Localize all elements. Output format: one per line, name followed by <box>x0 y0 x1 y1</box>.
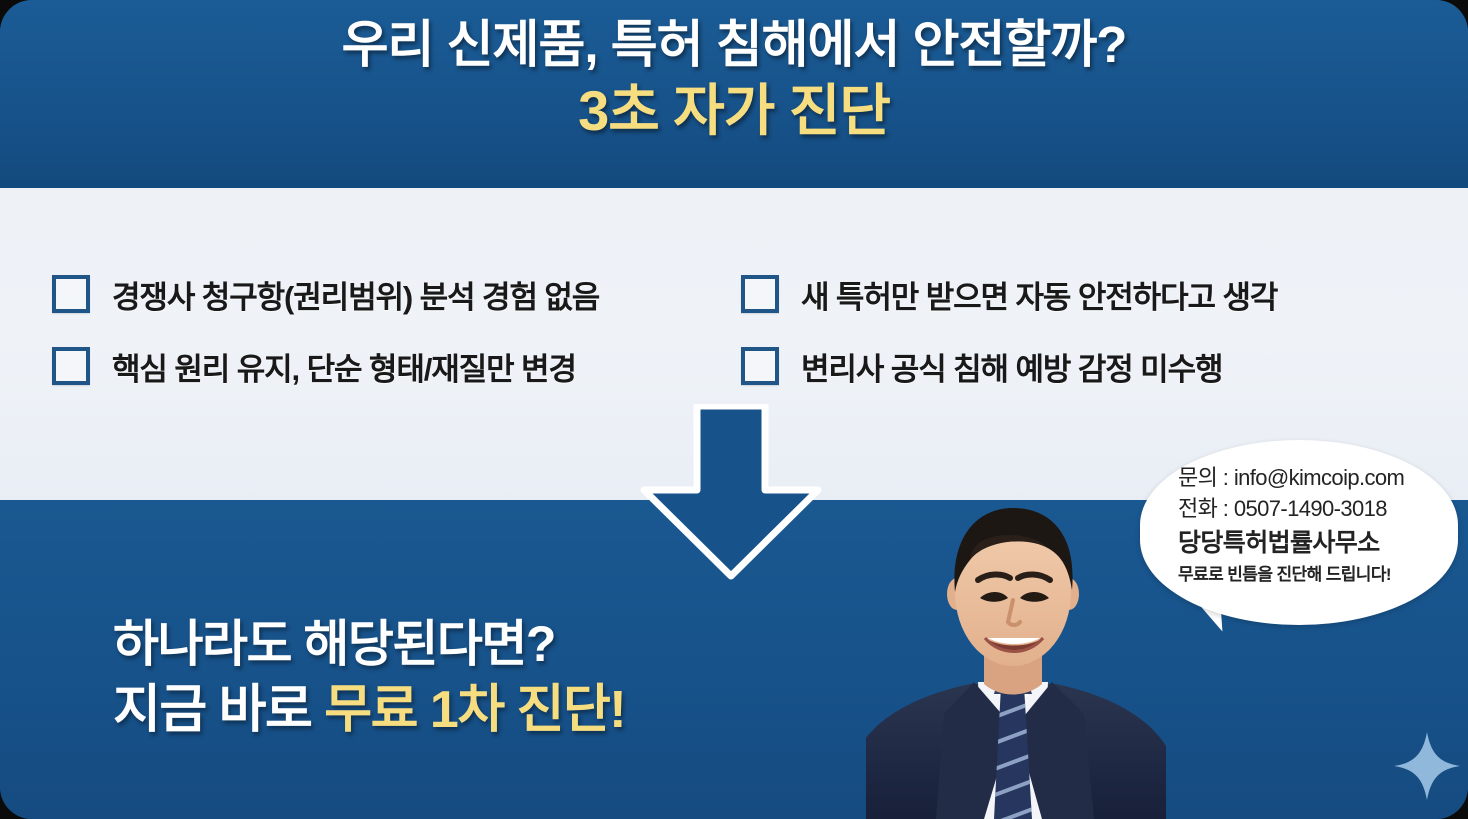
checklist-item-label: 새 특허만 받으면 자동 안전하다고 생각 <box>801 272 1277 317</box>
checklist-grid: 경쟁사 청구항(권리범위) 분석 경험 없음 새 특허만 받으면 자동 안전하다… <box>0 188 1468 402</box>
spokesperson-photo <box>866 488 1166 819</box>
checklist-item-label: 변리사 공식 침해 예방 감정 미수행 <box>801 344 1222 389</box>
cta-question: 하나라도 해당된다면? <box>113 615 625 674</box>
checkbox-icon[interactable] <box>52 275 90 313</box>
cta-block: 하나라도 해당된다면? 지금 바로 무료 1차 진단! <box>113 615 625 741</box>
cta-action: 지금 바로 무료 1차 진단! <box>113 680 625 741</box>
headline-subtitle: 3초 자가 진단 <box>0 79 1468 143</box>
checklist-item[interactable]: 핵심 원리 유지, 단순 형태/재질만 변경 <box>0 330 718 402</box>
down-arrow-icon <box>636 404 826 580</box>
checklist-item[interactable]: 경쟁사 청구항(권리범위) 분석 경험 없음 <box>0 258 718 330</box>
sparkle-icon <box>1392 730 1462 802</box>
headline-question: 우리 신제품, 특허 침해에서 안전할까? <box>0 16 1468 75</box>
checkbox-icon[interactable] <box>741 275 779 313</box>
checklist-item-label: 경쟁사 청구항(권리범위) 분석 경험 없음 <box>112 272 599 317</box>
contact-phone[interactable]: 전화 : 0507-1490-3018 <box>1178 493 1440 524</box>
firm-name: 당당특허법률사무소 <box>1178 526 1440 561</box>
checkbox-icon[interactable] <box>741 347 779 385</box>
cta-action-plain: 지금 바로 <box>113 681 324 739</box>
contact-speech-bubble: 문의 : info@kimcoip.com 전화 : 0507-1490-301… <box>1140 440 1458 625</box>
checklist-item[interactable]: 새 특허만 받으면 자동 안전하다고 생각 <box>718 258 1468 330</box>
contact-email[interactable]: 문의 : info@kimcoip.com <box>1178 462 1440 493</box>
checklist-item-label: 핵심 원리 유지, 단순 형태/재질만 변경 <box>112 344 576 389</box>
checkbox-icon[interactable] <box>52 347 90 385</box>
banner-header: 우리 신제품, 특허 침해에서 안전할까? 3초 자가 진단 <box>0 0 1468 188</box>
cta-action-highlight: 무료 1차 진단! <box>324 681 625 739</box>
checklist-item[interactable]: 변리사 공식 침해 예방 감정 미수행 <box>718 330 1468 402</box>
promo-banner: 우리 신제품, 특허 침해에서 안전할까? 3초 자가 진단 경쟁사 청구항(권… <box>0 0 1468 819</box>
contact-info: 문의 : info@kimcoip.com 전화 : 0507-1490-301… <box>1178 462 1440 587</box>
free-diagnosis-note: 무료로 빈틈을 진단해 드립니다! <box>1178 564 1440 587</box>
